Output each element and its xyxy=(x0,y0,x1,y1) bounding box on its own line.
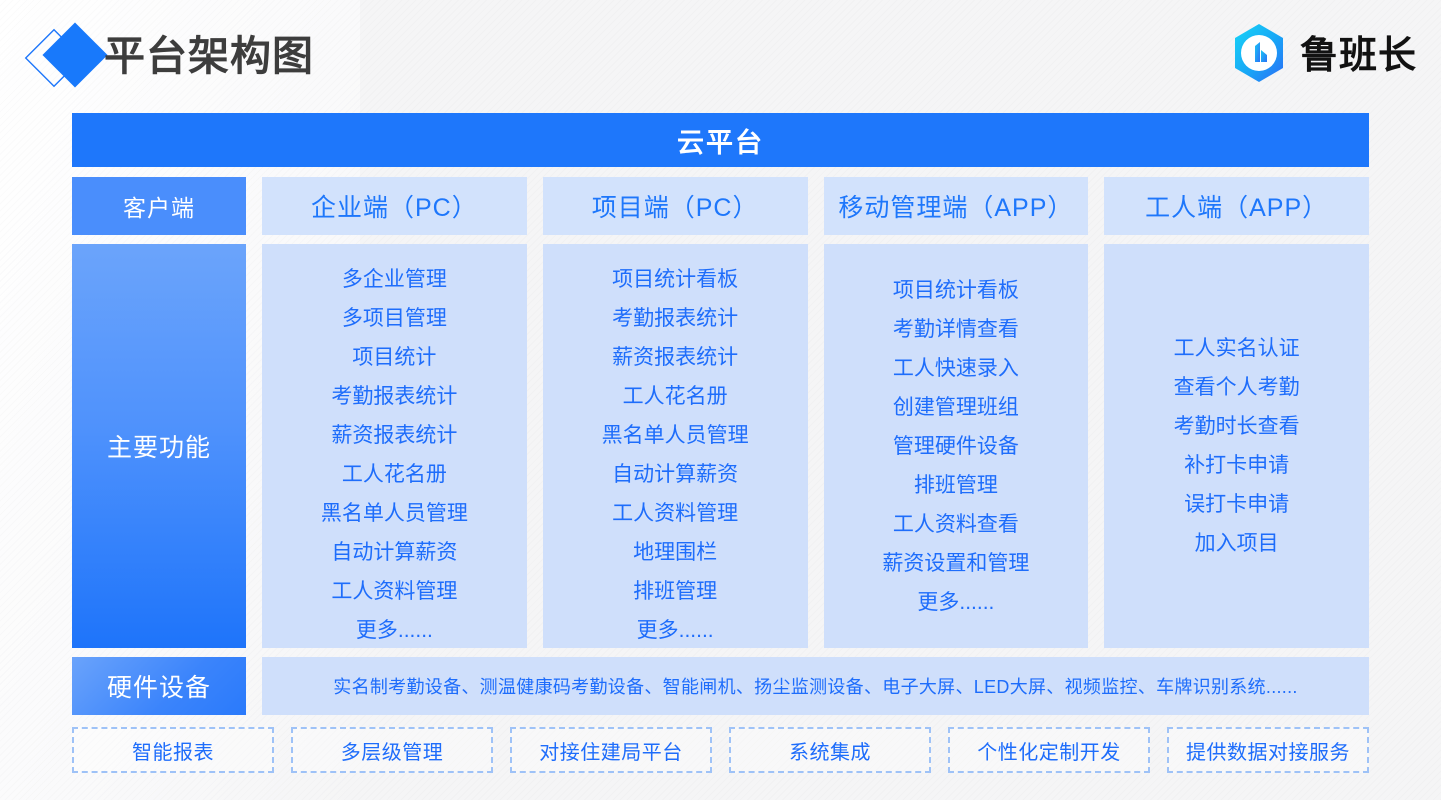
list-item[interactable]: 自动计算薪资 xyxy=(262,533,527,572)
list-item-more[interactable]: 更多...... xyxy=(824,583,1089,622)
list-item[interactable]: 查看个人考勤 xyxy=(1104,368,1369,407)
row-label-main-functions: 主要功能 xyxy=(72,244,246,648)
list-item[interactable]: 工人快速录入 xyxy=(824,349,1089,388)
list-item[interactable]: 工人花名册 xyxy=(543,377,808,416)
list-item[interactable]: 工人花名册 xyxy=(262,455,527,494)
column-header-mobile-app[interactable]: 移动管理端（APP） xyxy=(824,177,1089,235)
chip-custom-development[interactable]: 个性化定制开发 xyxy=(948,727,1150,773)
list-item[interactable]: 多企业管理 xyxy=(262,260,527,299)
column-header-enterprise-pc[interactable]: 企业端（PC） xyxy=(262,177,527,235)
functions-mobile-app: 项目统计看板 考勤详情查看 工人快速录入 创建管理班组 管理硬件设备 排班管理 … xyxy=(824,244,1089,648)
list-item[interactable]: 项目统计看板 xyxy=(824,271,1089,310)
row-label-client: 客户端 xyxy=(72,177,246,235)
function-list: 项目统计看板 考勤报表统计 薪资报表统计 工人花名册 黑名单人员管理 自动计算薪… xyxy=(543,260,808,650)
list-item[interactable]: 黑名单人员管理 xyxy=(543,416,808,455)
hardware-row: 硬件设备 实名制考勤设备、测温健康码考勤设备、智能闸机、扬尘监测设备、电子大屏、… xyxy=(72,657,1369,715)
list-item[interactable]: 自动计算薪资 xyxy=(543,455,808,494)
hexagon-building-logo-icon xyxy=(1228,22,1290,89)
list-item[interactable]: 薪资设置和管理 xyxy=(824,544,1089,583)
list-item[interactable]: 补打卡申请 xyxy=(1104,446,1369,485)
list-item-more[interactable]: 更多...... xyxy=(543,611,808,650)
list-item[interactable]: 管理硬件设备 xyxy=(824,427,1089,466)
list-item[interactable]: 工人资料管理 xyxy=(262,572,527,611)
row-label-hardware: 硬件设备 xyxy=(72,657,246,715)
functions-worker-app: 工人实名认证 查看个人考勤 考勤时长查看 补打卡申请 误打卡申请 加入项目 xyxy=(1104,244,1369,648)
list-item[interactable]: 地理围栏 xyxy=(543,533,808,572)
list-item[interactable]: 项目统计看板 xyxy=(543,260,808,299)
list-item[interactable]: 薪资报表统计 xyxy=(262,416,527,455)
functions-enterprise-pc: 多企业管理 多项目管理 项目统计 考勤报表统计 薪资报表统计 工人花名册 黑名单… xyxy=(262,244,527,648)
chip-smart-report[interactable]: 智能报表 xyxy=(72,727,274,773)
cloud-platform-banner: 云平台 xyxy=(72,113,1369,167)
hardware-device-list: 实名制考勤设备、测温健康码考勤设备、智能闸机、扬尘监测设备、电子大屏、LED大屏… xyxy=(262,657,1369,715)
list-item[interactable]: 工人资料查看 xyxy=(824,505,1089,544)
list-item[interactable]: 工人实名认证 xyxy=(1104,329,1369,368)
column-header-project-pc[interactable]: 项目端（PC） xyxy=(543,177,808,235)
chip-housing-bureau-platform[interactable]: 对接住建局平台 xyxy=(510,727,712,773)
list-item[interactable]: 排班管理 xyxy=(543,572,808,611)
list-item[interactable]: 创建管理班组 xyxy=(824,388,1089,427)
functions-project-pc: 项目统计看板 考勤报表统计 薪资报表统计 工人花名册 黑名单人员管理 自动计算薪… xyxy=(543,244,808,648)
list-item[interactable]: 考勤详情查看 xyxy=(824,310,1089,349)
column-header-worker-app[interactable]: 工人端（APP） xyxy=(1104,177,1369,235)
platform-architecture-diagram: 云平台 客户端 企业端（PC） 项目端（PC） 移动管理端（APP） 工人端（A… xyxy=(72,113,1369,773)
function-list: 工人实名认证 查看个人考勤 考勤时长查看 补打卡申请 误打卡申请 加入项目 xyxy=(1104,329,1369,563)
chip-multi-level-management[interactable]: 多层级管理 xyxy=(291,727,493,773)
list-item-more[interactable]: 更多...... xyxy=(262,611,527,650)
list-item[interactable]: 多项目管理 xyxy=(262,299,527,338)
list-item[interactable]: 薪资报表统计 xyxy=(543,338,808,377)
page-header: 平台架构图 xyxy=(0,0,1441,108)
chip-system-integration[interactable]: 系统集成 xyxy=(729,727,931,773)
list-item[interactable]: 考勤报表统计 xyxy=(262,377,527,416)
function-list: 项目统计看板 考勤详情查看 工人快速录入 创建管理班组 管理硬件设备 排班管理 … xyxy=(824,271,1089,622)
chip-data-integration-service[interactable]: 提供数据对接服务 xyxy=(1167,727,1369,773)
list-item[interactable]: 项目统计 xyxy=(262,338,527,377)
list-item[interactable]: 考勤报表统计 xyxy=(543,299,808,338)
brand-logo: 鲁班长 xyxy=(1228,22,1417,89)
list-item[interactable]: 误打卡申请 xyxy=(1104,485,1369,524)
list-item[interactable]: 工人资料管理 xyxy=(543,494,808,533)
diamond-logo-icon xyxy=(16,22,110,92)
function-list: 多企业管理 多项目管理 项目统计 考勤报表统计 薪资报表统计 工人花名册 黑名单… xyxy=(262,260,527,650)
list-item[interactable]: 加入项目 xyxy=(1104,524,1369,563)
main-functions-row: 主要功能 多企业管理 多项目管理 项目统计 考勤报表统计 薪资报表统计 工人花名… xyxy=(72,244,1369,648)
client-header-row: 客户端 企业端（PC） 项目端（PC） 移动管理端（APP） 工人端（APP） xyxy=(72,177,1369,235)
list-item[interactable]: 排班管理 xyxy=(824,466,1089,505)
page-title: 平台架构图 xyxy=(104,27,314,85)
list-item[interactable]: 黑名单人员管理 xyxy=(262,494,527,533)
brand-name: 鲁班长 xyxy=(1300,29,1417,83)
list-item[interactable]: 考勤时长查看 xyxy=(1104,407,1369,446)
service-chip-row: 智能报表 多层级管理 对接住建局平台 系统集成 个性化定制开发 提供数据对接服务 xyxy=(72,727,1369,773)
